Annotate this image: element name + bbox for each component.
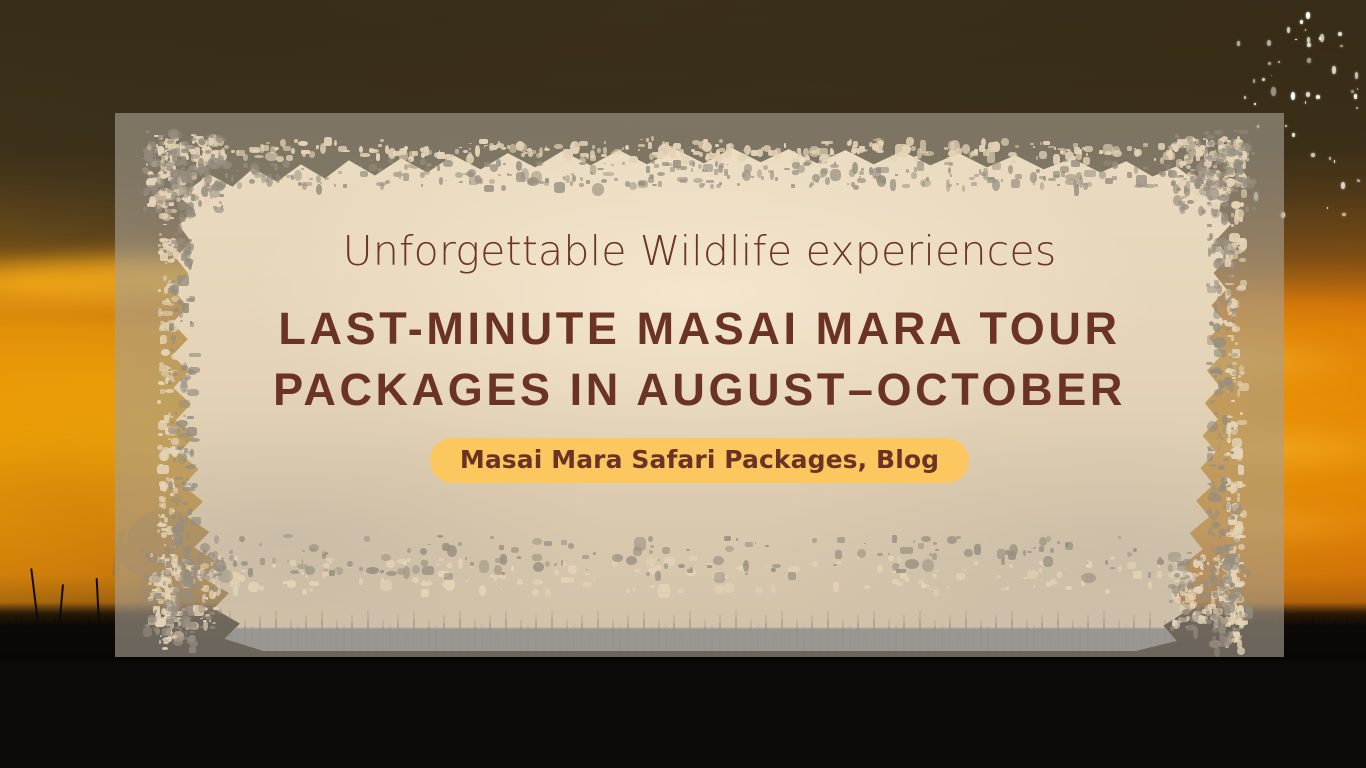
badge-row: Masai Mara Safari Packages, Blog	[430, 438, 969, 483]
content-frame-panel: Unforgettable Wildlife experiences Last-…	[115, 113, 1284, 657]
eyebrow-text: Unforgettable Wildlife experiences	[343, 231, 1057, 272]
poster-canvas: Unforgettable Wildlife experiences Last-…	[0, 0, 1366, 768]
poster-content: Unforgettable Wildlife experiences Last-…	[115, 113, 1284, 657]
page-title: Last-Minute Masai Mara Tour Packages in …	[250, 298, 1150, 420]
footer-dark-area	[0, 660, 1366, 768]
category-badge[interactable]: Masai Mara Safari Packages, Blog	[430, 438, 969, 483]
